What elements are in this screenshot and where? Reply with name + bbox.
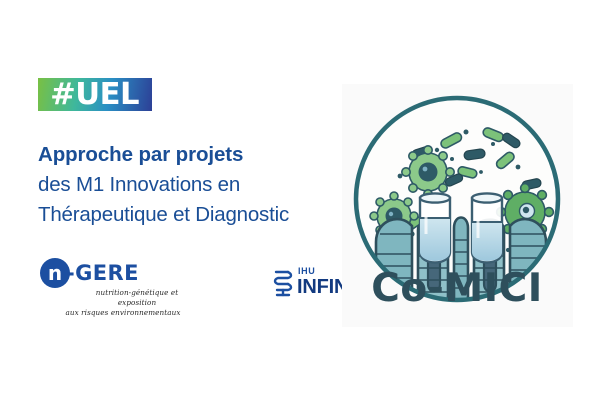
ngere-tagline: nutrition-génétique et exposition aux ri… [48,288,198,318]
ngere-tagline-line-1: nutrition-génétique et exposition [48,288,198,308]
left-content-column: #UEL Approche par projets des M1 Innovat… [0,0,345,400]
ngere-tagline-line-2: aux risques environnementaux [48,308,198,318]
slide-canvas: #UEL Approche par projets des M1 Innovat… [0,0,600,400]
title-line-1: Approche par projets [38,140,348,170]
ihu-big-label: INFIN [297,276,348,298]
ihu-infiny-logo: IHU INFIN [272,266,348,300]
comici-image-panel: Co-MICI [342,84,573,327]
title-line-3: Thérapeutique et Diagnostic [38,200,348,230]
comici-label: Co-MICI [371,266,543,311]
page-title: Approche par projets des M1 Innovations … [38,140,348,230]
ngere-wordmark: -GERE [66,261,139,285]
ngere-wordmark-row: n -GERE [40,258,195,288]
ngere-logo: n -GERE nutrition-génétique et expositio… [40,258,195,314]
uel-logo-label: #UEL [51,80,140,110]
title-line-2: des M1 Innovations en [38,170,348,200]
comici-logo: Co-MICI [342,84,573,327]
intestine-icon [272,268,294,298]
uel-logo: #UEL [38,78,152,111]
ngere-mark-letter: n [48,263,62,283]
